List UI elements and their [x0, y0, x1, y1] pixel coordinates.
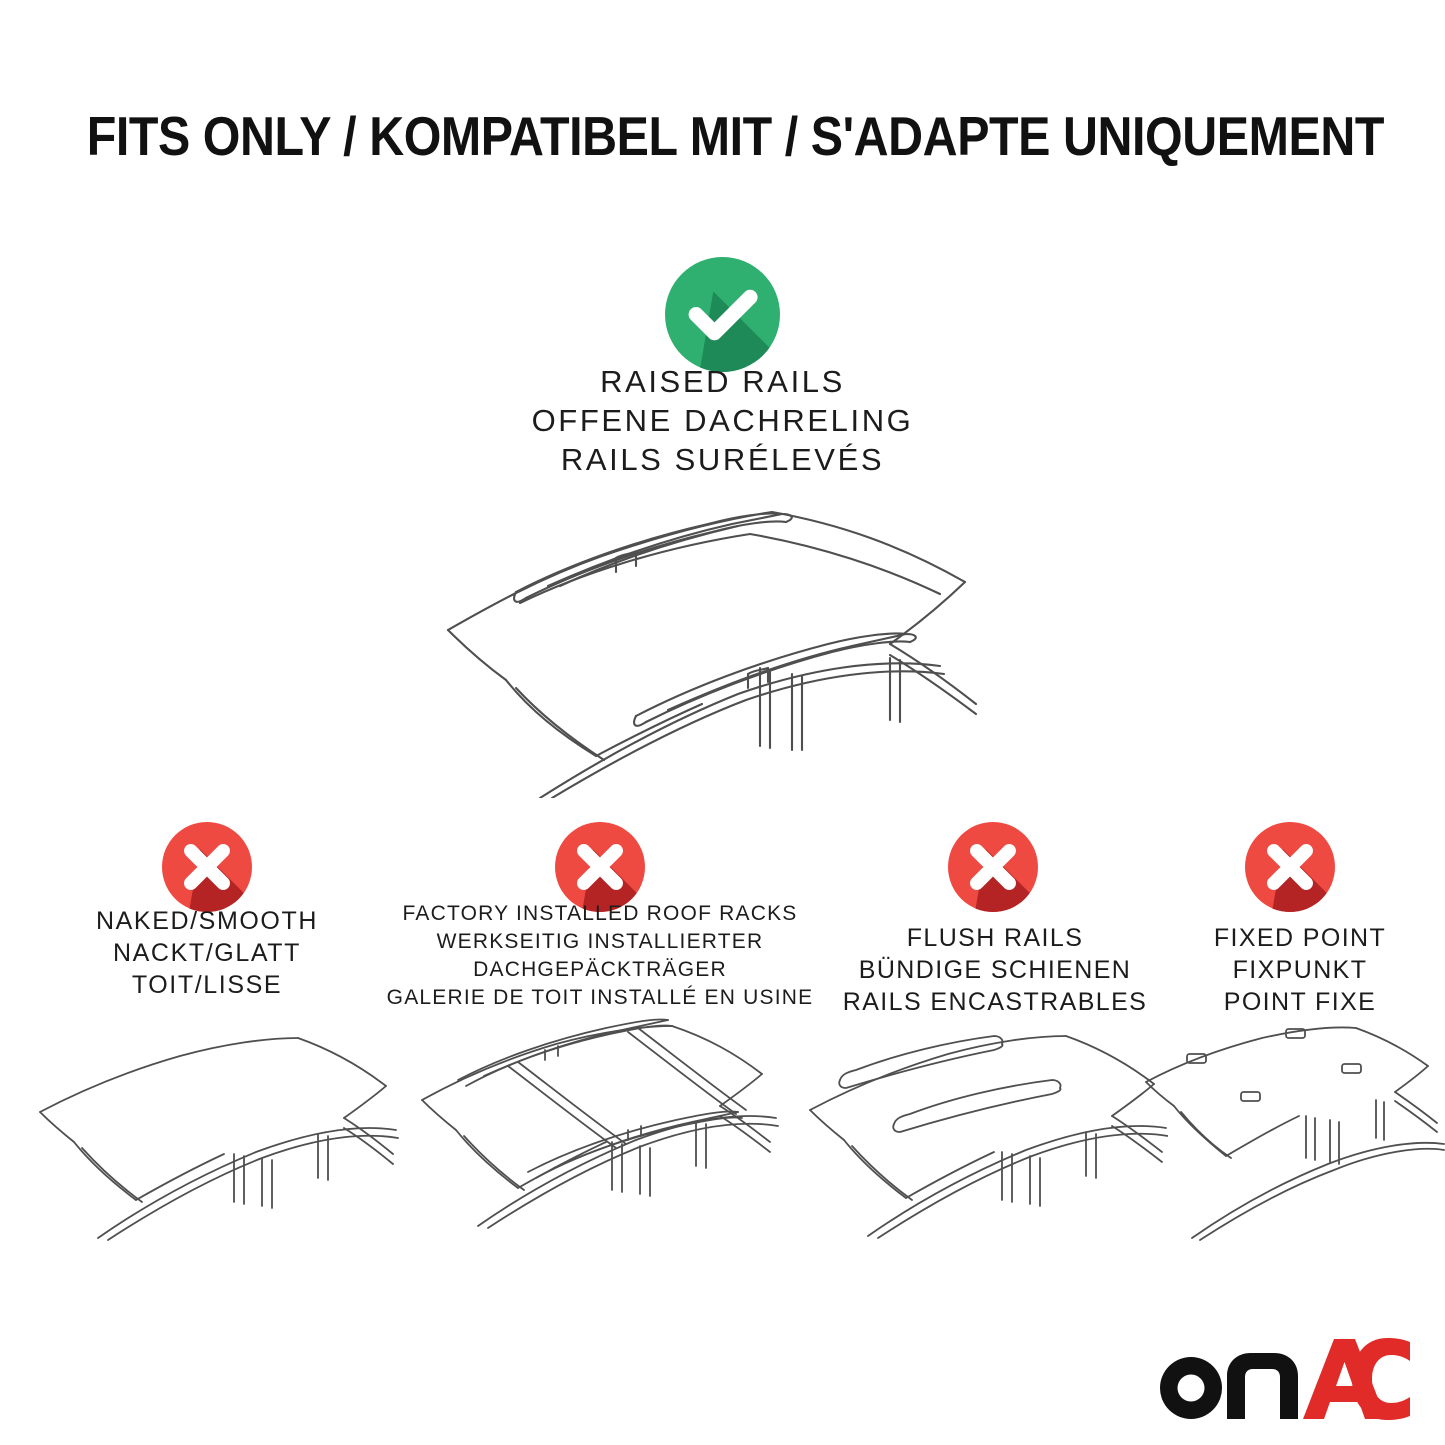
- incompatible-label-line: DACHGEPÄCKTRÄGER: [375, 956, 825, 984]
- compatible-label-line: OFFENE DACHRELING: [0, 401, 1445, 440]
- omac-logo: [1155, 1333, 1410, 1425]
- logo-letter-c: [1352, 1338, 1410, 1420]
- incompatible-label-line: BÜNDIGE SCHIENEN: [815, 954, 1175, 986]
- car-roof-fixed-point-illustration: [1140, 1016, 1445, 1241]
- incompatible-labels-factory-racks: FACTORY INSTALLED ROOF RACKS WERKSEITIG …: [375, 900, 825, 1012]
- car-roof-flush-rails-illustration: [788, 1016, 1168, 1241]
- compatible-label-line: RAILS SURÉLEVÉS: [0, 440, 1445, 479]
- incompatible-label-line: FIXPUNKT: [1155, 954, 1445, 986]
- incompatible-label-line: FIXED POINT: [1155, 922, 1445, 954]
- cross-circle-icon: [555, 822, 645, 912]
- check-circle-icon: [665, 257, 780, 372]
- incompatible-label-line: RAILS ENCASTRABLES: [815, 986, 1175, 1018]
- incompatible-labels-flush-rails: FLUSH RAILS BÜNDIGE SCHIENEN RAILS ENCAS…: [815, 922, 1175, 1018]
- car-roof-naked-smooth-illustration: [18, 1016, 403, 1241]
- incompatible-label-line: TOIT/LISSE: [47, 969, 367, 1001]
- logo-letter-o: [1160, 1357, 1222, 1419]
- cross-circle-icon: [948, 822, 1038, 912]
- incompatible-label-line: POINT FIXE: [1155, 986, 1445, 1018]
- cross-circle-icon: [1245, 822, 1335, 912]
- incompatible-labels-naked-smooth: NAKED/SMOOTH NACKT/GLATT TOIT/LISSE: [47, 905, 367, 1001]
- incompatible-label-line: FACTORY INSTALLED ROOF RACKS: [375, 900, 825, 928]
- logo-letter-m: [1227, 1353, 1298, 1419]
- page-title: FITS ONLY / KOMPATIBEL MIT / S'ADAPTE UN…: [87, 104, 1359, 168]
- infographic-page: FITS ONLY / KOMPATIBEL MIT / S'ADAPTE UN…: [0, 0, 1445, 1445]
- incompatible-label-line: FLUSH RAILS: [815, 922, 1175, 954]
- compatible-labels: RAISED RAILS OFFENE DACHRELING RAILS SUR…: [0, 362, 1445, 479]
- compatible-label-line: RAISED RAILS: [0, 362, 1445, 401]
- car-roof-factory-roof-racks-illustration: [400, 1008, 785, 1243]
- incompatible-label-line: NACKT/GLATT: [47, 937, 367, 969]
- cross-circle-icon: [162, 822, 252, 912]
- incompatible-labels-fixed-point: FIXED POINT FIXPUNKT POINT FIXE: [1155, 922, 1445, 1018]
- incompatible-label-line: NAKED/SMOOTH: [47, 905, 367, 937]
- incompatible-label-line: WERKSEITIG INSTALLIERTER: [375, 928, 825, 956]
- car-roof-raised-rails-illustration: [420, 498, 990, 798]
